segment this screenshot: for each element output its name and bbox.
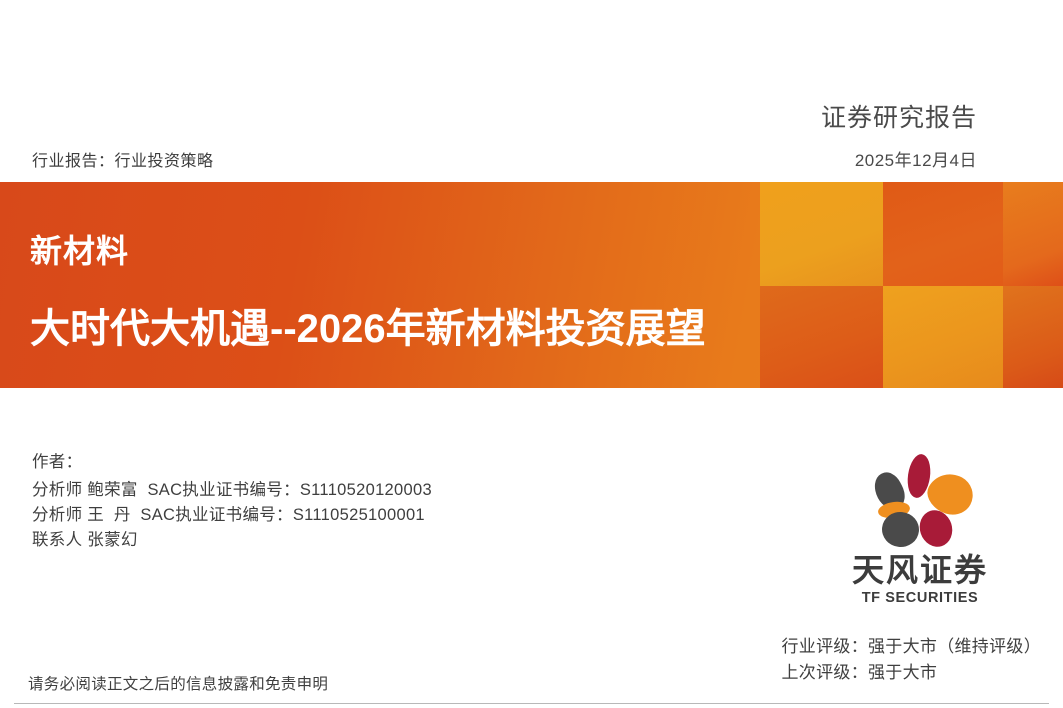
report-date: 2025年12月4日 — [855, 146, 977, 171]
footer-divider — [14, 703, 1049, 704]
title-banner — [0, 182, 1063, 388]
report-category: 行业报告：行业投资策略 — [32, 147, 214, 171]
author-line-1: 分析师 鲍荣富 SAC执业证书编号：S1110520120003 — [32, 478, 432, 503]
report-type-label: 证券研究报告 — [821, 98, 977, 134]
disclaimer-note: 请务必阅读正文之后的信息披露和免责申明 — [28, 672, 328, 694]
previous-rating: 上次评级：强于大市 — [782, 660, 1042, 686]
author-line-2: 分析师 王 丹 SAC执业证书编号：S1110525100001 — [32, 503, 432, 528]
report-title: 大时代大机遇--2026年新材料投资展望 — [30, 296, 706, 354]
sector-name: 新材料 — [30, 226, 129, 272]
logo-name-cn: 天风证券 — [840, 552, 1000, 588]
rating-block: 行业评级：强于大市（维持评级） 上次评级：强于大市 — [782, 634, 1042, 686]
flower-logo-icon — [864, 452, 976, 548]
logo-name-en: TF SECURITIES — [840, 590, 1000, 606]
banner-block-3 — [1003, 182, 1063, 286]
banner-block-4 — [760, 286, 883, 388]
banner-block-6 — [1003, 286, 1063, 388]
banner-block-2 — [883, 182, 1003, 286]
banner-block-pattern — [0, 182, 1063, 388]
company-logo: 天风证券 TF SECURITIES — [840, 452, 1000, 617]
industry-rating: 行业评级：强于大市（维持评级） — [782, 634, 1042, 660]
author-heading: 作者： — [32, 450, 432, 475]
author-line-3: 联系人 张蒙幻 — [32, 528, 432, 553]
banner-block-1 — [760, 182, 883, 286]
author-block: 作者： 分析师 鲍荣富 SAC执业证书编号：S1110520120003 分析师… — [32, 450, 432, 553]
report-cover-page: 证券研究报告 2025年12月4日 行业报告：行业投资策略 新材料 大时代大机遇… — [0, 0, 1063, 708]
banner-block-5 — [883, 286, 1003, 388]
